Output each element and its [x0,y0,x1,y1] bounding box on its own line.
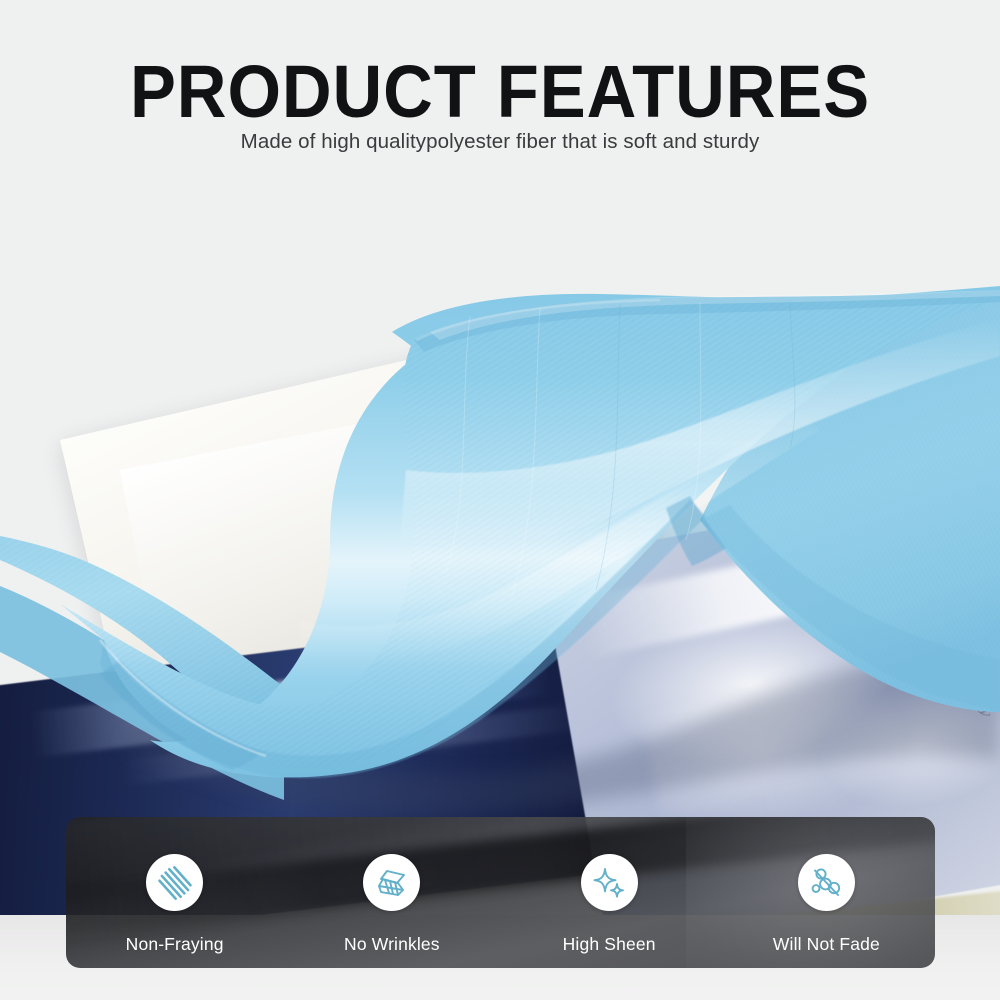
feature-bar: Non-Fraying [66,817,935,968]
feature-label: Will Not Fade [773,934,880,955]
feature-label: No Wrinkles [344,934,440,955]
no-color-bleed-icon [798,854,855,911]
folded-fabric-icon [363,854,420,911]
feature-label: High Sheen [563,934,656,955]
sparkle-icon [581,854,638,911]
product-feature-banner: and lovely [0,0,1000,1000]
feature-item-non-fraying[interactable]: Non-Fraying [66,817,283,955]
feature-item-high-sheen[interactable]: High Sheen [501,817,718,955]
feature-item-no-wrinkles[interactable]: No Wrinkles [283,817,500,955]
feature-list: Non-Fraying [66,817,935,968]
feature-label: Non-Fraying [126,934,224,955]
feature-item-will-not-fade[interactable]: Will Not Fade [718,817,935,955]
woven-threads-icon [146,854,203,911]
